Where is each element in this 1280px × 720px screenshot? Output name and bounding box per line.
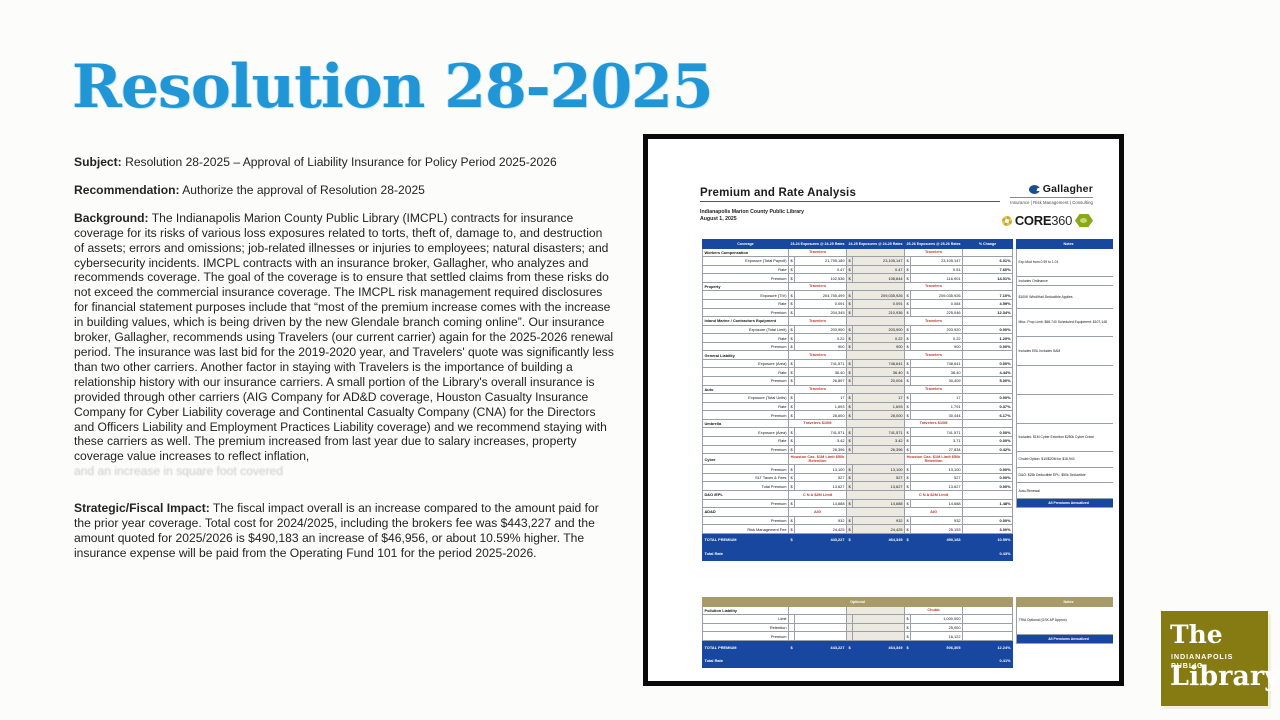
pct-change: 1.20% xyxy=(963,334,1013,343)
body-copy: Subject: Resolution 28-2025 – Approval o… xyxy=(74,155,614,574)
table-cell-value: 209,035,926 xyxy=(853,291,905,300)
coverage-name: AD&D xyxy=(703,508,789,517)
table-cell-empty xyxy=(963,248,1013,257)
pct-change xyxy=(963,632,1013,641)
table-row: Rate$3.42$3.42$3.710.00% xyxy=(703,436,1013,445)
table-cell-empty xyxy=(963,508,1013,517)
table-row: Exposure (Total Payroll)$21,795,189$23,1… xyxy=(703,257,1013,266)
library-logo: The INDIANAPOLIS PUBLIC Library xyxy=(1161,611,1268,706)
pct-change: 0.00% xyxy=(963,428,1013,437)
table-row: Premium$102,536$108,644$116,90114.01% xyxy=(703,274,1013,283)
carrier-name: C N A $2M Limit xyxy=(789,490,847,499)
table-cell-value: 741,571 xyxy=(911,428,963,437)
coverage-name: Inland Marine / Contractors Equipment xyxy=(703,317,789,326)
row-label: Premium xyxy=(703,516,789,525)
table-row: Limit$1,000,000 xyxy=(703,615,1013,624)
table-cell-empty xyxy=(963,454,1013,465)
table-cell-empty xyxy=(847,508,905,517)
carrier-name: Travelers $10M xyxy=(789,419,847,428)
row-label: Rate xyxy=(703,368,789,377)
gallagher-logo: Gallagher Insurance | Risk Management | … xyxy=(1010,183,1093,205)
table-cell-value: 1,791 xyxy=(911,402,963,411)
table-cell-value: 27,834 xyxy=(911,445,963,454)
table-cell-value: 1,693 xyxy=(853,402,905,411)
table-cell-value: 38.40 xyxy=(911,368,963,377)
logo-the-text: The xyxy=(1170,622,1223,647)
pct-change: 4.44% xyxy=(963,368,1013,377)
carrier-name: Travelers xyxy=(905,385,963,394)
table-row: Total Premium$13,627$13,627$13,6270.00% xyxy=(703,482,1013,491)
pct-change: 4.59% xyxy=(963,299,1013,308)
table-cell-value: 23,105,147 xyxy=(853,257,905,266)
carrier-name: Travelers xyxy=(789,282,847,291)
table-cell-empty xyxy=(963,419,1013,428)
carrier-name: Chubb xyxy=(905,606,963,615)
carrier-name: C N A $2M Limit xyxy=(905,490,963,499)
col-exposures-24-25: 24-25 Exposures @ 24-25 Rates xyxy=(847,240,905,249)
coverage-name: Cyber xyxy=(703,454,789,465)
table-row: Exposure (TIV)$204,755,499$209,035,926$2… xyxy=(703,291,1013,300)
table-cell-empty xyxy=(963,317,1013,326)
table-cell-empty xyxy=(789,654,963,667)
notes-table: Notes Exp Mod from 0.99 to 1.01Includes … xyxy=(1016,239,1113,508)
row-label: Risk Management Fee xyxy=(703,525,789,534)
table-cell-value: 900 xyxy=(853,342,905,351)
table-cell-value: 748,641 xyxy=(853,359,905,368)
table-row: SLT Taxes & Fees$527$527$5270.00% xyxy=(703,473,1013,482)
table-cell-value: 0.084 xyxy=(911,299,963,308)
carrier-name xyxy=(789,606,847,615)
pct-change: 0.00% xyxy=(963,359,1013,368)
total-rate-pct: 0.43% xyxy=(963,547,1013,560)
coverage-name: Umbrella xyxy=(703,419,789,428)
note-text xyxy=(1017,394,1114,423)
table-row: Premium$13,100$13,100$13,1000.00% xyxy=(703,465,1013,474)
row-label: Rate xyxy=(703,436,789,445)
notes-row: Includes Ordinance xyxy=(1017,277,1114,286)
table-cell-value: 13,627 xyxy=(795,482,847,491)
notes-row: Includes EBL Includes SAM xyxy=(1017,337,1114,366)
recommendation-paragraph: Recommendation: Authorize the approval o… xyxy=(74,183,614,198)
row-label: Premium xyxy=(703,499,789,508)
table-cell-value: 932 xyxy=(853,516,905,525)
background-text: The Indianapolis Marion County Public Li… xyxy=(74,211,614,464)
row-label: Premium xyxy=(703,465,789,474)
document-preview-frame[interactable]: Premium and Rate Analysis Indianapolis M… xyxy=(643,134,1124,686)
table-cell-value: 14,688 xyxy=(795,499,847,508)
table-cell-value: 203,900 xyxy=(795,325,847,334)
col-optional: Optional xyxy=(703,598,1013,607)
coverage-name: Auto xyxy=(703,385,789,394)
note-text: Exp Mod from 0.99 to 1.01 xyxy=(1017,248,1114,277)
table-cell-value: 3.71 xyxy=(911,436,963,445)
table-cell-value: 23,105,147 xyxy=(911,257,963,266)
table-cell-value: 0.091 xyxy=(853,299,905,308)
notes-row: Chubb Option: $10/$20M for $18,943 xyxy=(1017,452,1114,468)
table-row: Exposure (Total Limit)$203,900$203,900$2… xyxy=(703,325,1013,334)
notes-row: All Premiums Annualized xyxy=(1017,499,1114,508)
table-row: Rate$36.40$36.40$38.404.44% xyxy=(703,368,1013,377)
note-text: Includes: $1M Cyber Extortion $250k Cybe… xyxy=(1017,423,1114,452)
row-label: Exposure (Area) xyxy=(703,428,789,437)
table-cell-value: 30,444 xyxy=(911,411,963,420)
recommendation-text: Authorize the approval of Resolution 28-… xyxy=(180,183,425,197)
table-cell-value: 17 xyxy=(795,394,847,403)
table-row: Workers CompensationTravelersTravelers xyxy=(703,248,1013,257)
slide-root: Resolution 28-2025 Subject: Resolution 2… xyxy=(0,0,1280,720)
optional-body: Pollution LiabilityChubbLimit$1,000,000R… xyxy=(703,606,1013,667)
table-cell-value: 0.22 xyxy=(853,334,905,343)
table-row: Pollution LiabilityChubb xyxy=(703,606,1013,615)
coverage-name: Pollution Liability xyxy=(703,606,789,615)
note-text: Includes EBL Includes SAM xyxy=(1017,337,1114,366)
row-label: Exposure (Total Limit) xyxy=(703,325,789,334)
pct-change: 0.00% xyxy=(963,482,1013,491)
table-row: Rate$0.47$0.47$0.517.60% xyxy=(703,265,1013,274)
table-row: CyberHouston Cas. $1M Limit $50k Retenti… xyxy=(703,454,1013,465)
background-label: Background: xyxy=(74,211,149,225)
table-cell-value: 741,571 xyxy=(853,428,905,437)
pct-change: 0.00% xyxy=(963,342,1013,351)
pct-change: 0.00% xyxy=(963,473,1013,482)
table-row: Premium$16,122 xyxy=(703,632,1013,641)
gear-icon xyxy=(1002,216,1012,226)
table-cell-value: 36.40 xyxy=(853,368,905,377)
table-cell-empty xyxy=(847,282,905,291)
table-row: Rate$0.091$0.091$0.0844.59% xyxy=(703,299,1013,308)
pct-change: 3.00% xyxy=(963,525,1013,534)
gallagher-tagline: Insurance | Risk Management | Consulting xyxy=(1010,197,1093,205)
row-label: Rate xyxy=(703,265,789,274)
total-pct: 12.24% xyxy=(963,640,1013,653)
table-cell-value: 25,000 xyxy=(911,623,963,632)
table-cell-value xyxy=(795,615,847,624)
table-cell-empty xyxy=(847,351,905,360)
row-label: Premium xyxy=(703,308,789,317)
notes-row xyxy=(1017,394,1114,423)
notes-row xyxy=(1017,366,1114,395)
table-cell-empty xyxy=(789,547,963,560)
table-row: Premium$900$900$9000.00% xyxy=(703,342,1013,351)
table-cell-value: 108,644 xyxy=(853,274,905,283)
optional-coverage-table: Optional Pollution LiabilityChubbLimit$1… xyxy=(702,597,1013,668)
table-cell-value: 14,688 xyxy=(911,499,963,508)
table-row: Rate$0.22$0.22$0.221.20% xyxy=(703,334,1013,343)
row-label: Rate xyxy=(703,402,789,411)
table-cell-value: 203,900 xyxy=(853,325,905,334)
table-cell-empty xyxy=(963,385,1013,394)
table-head: Coverage 23-24 Exposures @ 24-25 Rates 2… xyxy=(703,240,1013,249)
table-cell-empty xyxy=(847,606,905,615)
table-cell-value xyxy=(853,623,905,632)
optional-notes-table: Notes TRIA Optional (GSK AP Approx)All P… xyxy=(1016,597,1113,644)
table-row: General LiabilityTravelersTravelers xyxy=(703,351,1013,360)
table-cell-empty xyxy=(847,490,905,499)
total-row: TOTAL PREMIUM$443,227$464,349$490,18310.… xyxy=(703,533,1013,546)
total-value: 464,349 xyxy=(853,640,905,653)
total-rate-label: Total Rate xyxy=(703,654,789,667)
pct-change: 0.00% xyxy=(963,325,1013,334)
table-cell-value: 21,795,189 xyxy=(795,257,847,266)
row-label: SLT Taxes & Fees xyxy=(703,473,789,482)
table-cell-value: 20,004 xyxy=(853,377,905,386)
pct-change xyxy=(963,623,1013,632)
notes-row: TRIA Optional (GSK AP Approx) xyxy=(1017,606,1114,635)
table-cell-empty xyxy=(847,419,905,428)
optional-head: Optional xyxy=(703,598,1013,607)
subject-text: Resolution 28-2025 – Approval of Liabili… xyxy=(122,155,557,169)
row-label: Total Premium xyxy=(703,482,789,491)
note-text: Includes Ordinance xyxy=(1017,277,1114,286)
row-label: Exposure (Total Payroll) xyxy=(703,257,789,266)
row-label: Limit xyxy=(703,615,789,624)
table-cell-value: 30,409 xyxy=(911,377,963,386)
notes-head: Notes xyxy=(1017,240,1114,249)
table-cell-value: 17 xyxy=(853,394,905,403)
pct-change: 7.60% xyxy=(963,265,1013,274)
table-cell-value xyxy=(853,632,905,641)
table-cell-value: 3.42 xyxy=(853,436,905,445)
table-cell-value: 210,936 xyxy=(853,308,905,317)
pct-change xyxy=(963,615,1013,624)
table-row: PropertyTravelersTravelers xyxy=(703,282,1013,291)
col-pct-change: % Change xyxy=(963,240,1013,249)
table-cell-value: 932 xyxy=(795,516,847,525)
pct-change: 0.00% xyxy=(963,465,1013,474)
notes-row: Exp Mod from 0.99 to 1.01 xyxy=(1017,248,1114,277)
carrier-name: Travelers xyxy=(905,282,963,291)
table-cell-value: 748,641 xyxy=(911,359,963,368)
row-label: Exposure (Total Units) xyxy=(703,394,789,403)
row-label: Retention xyxy=(703,623,789,632)
total-rate-pct: 0.41% xyxy=(963,654,1013,667)
note-text xyxy=(1017,366,1114,395)
carrier-name: Houston Cas. $1M Limit $50k Retention xyxy=(789,454,847,465)
table-cell-value: 0.47 xyxy=(853,265,905,274)
table-cell-value xyxy=(795,632,847,641)
note-text: D&O: $25k Deductible EPL: $50k Deductibl… xyxy=(1017,467,1114,483)
table-row: AutoTravelersTravelers xyxy=(703,385,1013,394)
table-cell-value: 26,396 xyxy=(795,445,847,454)
notes-row: Includes: $1M Cyber Extortion $250k Cybe… xyxy=(1017,423,1114,452)
optional-notes-body: TRIA Optional (GSK AP Approx)All Premium… xyxy=(1017,606,1114,643)
table-cell-value: 13,100 xyxy=(795,465,847,474)
pct-change: 0.00% xyxy=(963,516,1013,525)
col-optional-notes: Notes xyxy=(1017,598,1114,607)
carrier-name: Travelers xyxy=(905,351,963,360)
table-cell-value: 741,571 xyxy=(795,359,847,368)
total-rate-row: Total Rate0.41% xyxy=(703,654,1013,667)
note-text: Auto-Renewal xyxy=(1017,483,1114,499)
table-cell-value: 13,627 xyxy=(853,482,905,491)
table-cell-value: 25,153 xyxy=(911,525,963,534)
table-cell-value: 0.22 xyxy=(795,334,847,343)
background-cut-line: and an increase in square foot covered xyxy=(74,464,614,479)
page-title: Resolution 28-2025 xyxy=(72,52,713,122)
pct-change: 6.17% xyxy=(963,411,1013,420)
table-cell-value: 17 xyxy=(911,394,963,403)
strategic-label: Strategic/Fiscal Impact: xyxy=(74,501,210,515)
pct-change: 0.42% xyxy=(963,445,1013,454)
col-coverage: Coverage xyxy=(703,240,789,249)
table-cell-empty xyxy=(847,454,905,465)
row-label: Premium xyxy=(703,411,789,420)
carrier-name: AIG xyxy=(905,508,963,517)
optional-header-row: Optional xyxy=(703,598,1013,607)
table-cell-empty xyxy=(963,606,1013,615)
carrier-name: Travelers xyxy=(789,385,847,394)
table-cell-value: 203,920 xyxy=(911,325,963,334)
col-notes: Notes xyxy=(1017,240,1114,249)
total-value: 443,227 xyxy=(795,640,847,653)
notes-body: Exp Mod from 0.99 to 1.01Includes Ordina… xyxy=(1017,248,1114,507)
core-suffix: 360 xyxy=(1051,213,1072,228)
notes-row: All Premiums Annualized xyxy=(1017,635,1114,644)
table-cell-value: 741,571 xyxy=(795,428,847,437)
table-cell-value: 0.091 xyxy=(795,299,847,308)
gallagher-wordmark: Gallagher xyxy=(1010,183,1093,195)
table-cell-value: 225,046 xyxy=(911,308,963,317)
table-cell-value: 28,000 xyxy=(853,411,905,420)
table-cell-empty xyxy=(847,385,905,394)
total-value: 506,305 xyxy=(911,640,963,653)
table-cell-value: 24,425 xyxy=(853,525,905,534)
table-row: D&O /EPLC N A $2M LimitC N A $2M Limit xyxy=(703,490,1013,499)
note-text: $100K Wind/Hail Deductible Applies xyxy=(1017,286,1114,308)
pct-change: 7.10% xyxy=(963,291,1013,300)
premium-rate-table: Coverage 23-24 Exposures @ 24-25 Rates 2… xyxy=(702,239,1013,561)
table-cell-value: 26,897 xyxy=(795,377,847,386)
strategic-paragraph: Strategic/Fiscal Impact: The fiscal impa… xyxy=(74,501,614,561)
table-row: Rate$1,693$1,693$1,7910.37% xyxy=(703,402,1013,411)
note-text: All Premiums Annualized xyxy=(1017,635,1114,644)
notes-row: D&O: $25k Deductible EPL: $50k Deductibl… xyxy=(1017,467,1114,483)
gallagher-mark-icon xyxy=(1029,185,1040,194)
note-text: All Premiums Annualized xyxy=(1017,499,1114,508)
table-cell-value: 0.47 xyxy=(795,265,847,274)
logo-library-text: Library xyxy=(1170,662,1280,692)
table-cell-value: 0.22 xyxy=(911,334,963,343)
table-cell-value: 3.42 xyxy=(795,436,847,445)
pct-change: 14.01% xyxy=(963,274,1013,283)
optional-notes-header-row: Notes xyxy=(1017,598,1114,607)
table-cell-empty xyxy=(963,351,1013,360)
table-cell-value xyxy=(795,623,847,632)
table-cell-empty xyxy=(963,490,1013,499)
document-title: Premium and Rate Analysis xyxy=(700,187,1000,202)
table-cell-value: 24,425 xyxy=(795,525,847,534)
table-row: Premium$932$932$9320.00% xyxy=(703,516,1013,525)
table-row: Premium$204,345$210,936$225,04612.34% xyxy=(703,308,1013,317)
table-cell-value: 209,035,926 xyxy=(911,291,963,300)
pct-change: 0.37% xyxy=(963,402,1013,411)
total-value: 464,349 xyxy=(853,533,905,546)
gallagher-name-text: Gallagher xyxy=(1043,183,1093,195)
total-value: 490,183 xyxy=(911,533,963,546)
coverage-name: D&O /EPL xyxy=(703,490,789,499)
total-row: TOTAL PREMIUM$443,227$464,349$506,30512.… xyxy=(703,640,1013,653)
notes-header-row: Notes xyxy=(1017,240,1114,249)
table-row: UmbrellaTravelers $10MTravelers $10M xyxy=(703,419,1013,428)
note-text: Chubb Option: $10/$20M for $18,943 xyxy=(1017,452,1114,468)
table-cell-value: 14,688 xyxy=(853,499,905,508)
leaf-icon xyxy=(1075,214,1093,227)
coverage-name: Property xyxy=(703,282,789,291)
document-page: Premium and Rate Analysis Indianapolis M… xyxy=(654,145,1113,675)
table-row: Premium$28,600$28,000$30,4446.17% xyxy=(703,411,1013,420)
carrier-name: Houston Cas. $1M Limit $50k Retention xyxy=(905,454,963,465)
row-label: Premium xyxy=(703,445,789,454)
background-paragraph: Background: The Indianapolis Marion Coun… xyxy=(74,211,614,464)
optional-notes-head: Notes xyxy=(1017,598,1114,607)
table-cell-value: 900 xyxy=(795,342,847,351)
row-label: Premium xyxy=(703,342,789,351)
table-row: Exposure (Area)$741,571$748,641$748,6410… xyxy=(703,359,1013,368)
table-cell-value: 204,755,499 xyxy=(795,291,847,300)
table-cell-value: 102,536 xyxy=(795,274,847,283)
table-body: Workers CompensationTravelersTravelersEx… xyxy=(703,248,1013,560)
document-header: Premium and Rate Analysis Indianapolis M… xyxy=(700,187,1101,223)
row-label: Exposure (Area) xyxy=(703,359,789,368)
row-label: Rate xyxy=(703,334,789,343)
table-cell-value: 900 xyxy=(911,342,963,351)
core-prefix: CORE xyxy=(1015,213,1051,228)
table-row: Premium$14,688$14,688$14,6881.48% xyxy=(703,499,1013,508)
table-cell-value: 527 xyxy=(853,473,905,482)
table-cell-value: 36.40 xyxy=(795,368,847,377)
table-row: Retention$25,000 xyxy=(703,623,1013,632)
notes-row: Misc. Prop Limit: $68,740 Scheduled Equi… xyxy=(1017,308,1114,337)
total-rate-label: Total Rate xyxy=(703,547,789,560)
pct-change: 0.00% xyxy=(963,394,1013,403)
table-cell-value: 13,100 xyxy=(853,465,905,474)
subject-label: Subject: xyxy=(74,155,122,169)
table-cell-value: 28,600 xyxy=(795,411,847,420)
pct-change: 1.48% xyxy=(963,499,1013,508)
carrier-name: Travelers xyxy=(905,317,963,326)
table-row: Risk Management Fee$24,425$24,425$25,153… xyxy=(703,525,1013,534)
row-label: Premium xyxy=(703,632,789,641)
pct-change: 5.00% xyxy=(963,377,1013,386)
table-row: Premium$26,396$26,396$27,8340.42% xyxy=(703,445,1013,454)
notes-row: $100K Wind/Hail Deductible Applies xyxy=(1017,286,1114,308)
table-cell-value: 204,345 xyxy=(795,308,847,317)
recommendation-label: Recommendation: xyxy=(74,183,180,197)
note-text: TRIA Optional (GSK AP Approx) xyxy=(1017,606,1114,635)
table-row: Exposure (Area)$741,571$741,571$741,5710… xyxy=(703,428,1013,437)
table-row: AD&DAIGAIG xyxy=(703,508,1013,517)
table-cell-value: 13,627 xyxy=(911,482,963,491)
row-label: Exposure (TIV) xyxy=(703,291,789,300)
table-cell-value: 26,396 xyxy=(853,445,905,454)
row-label: Rate xyxy=(703,299,789,308)
table-cell-empty xyxy=(847,317,905,326)
table-cell-empty xyxy=(963,282,1013,291)
carrier-name: AIG xyxy=(789,508,847,517)
table-cell-value: 932 xyxy=(911,516,963,525)
table-cell-value: 1,000,000 xyxy=(911,615,963,624)
coverage-name: Workers Compensation xyxy=(703,248,789,257)
total-label: TOTAL PREMIUM xyxy=(703,640,789,653)
table-cell-value: 16,122 xyxy=(911,632,963,641)
col-exposures-23-24: 23-24 Exposures @ 24-25 Rates xyxy=(789,240,847,249)
core360-logo: CORE360 xyxy=(1002,213,1093,228)
total-rate-row: Total Rate0.43% xyxy=(703,547,1013,560)
notes-row: Auto-Renewal xyxy=(1017,483,1114,499)
col-exposures-25-26: 25-26 Exposures @ 25-26 Rates xyxy=(905,240,963,249)
table-cell-value: 527 xyxy=(795,473,847,482)
total-value: 443,227 xyxy=(795,533,847,546)
